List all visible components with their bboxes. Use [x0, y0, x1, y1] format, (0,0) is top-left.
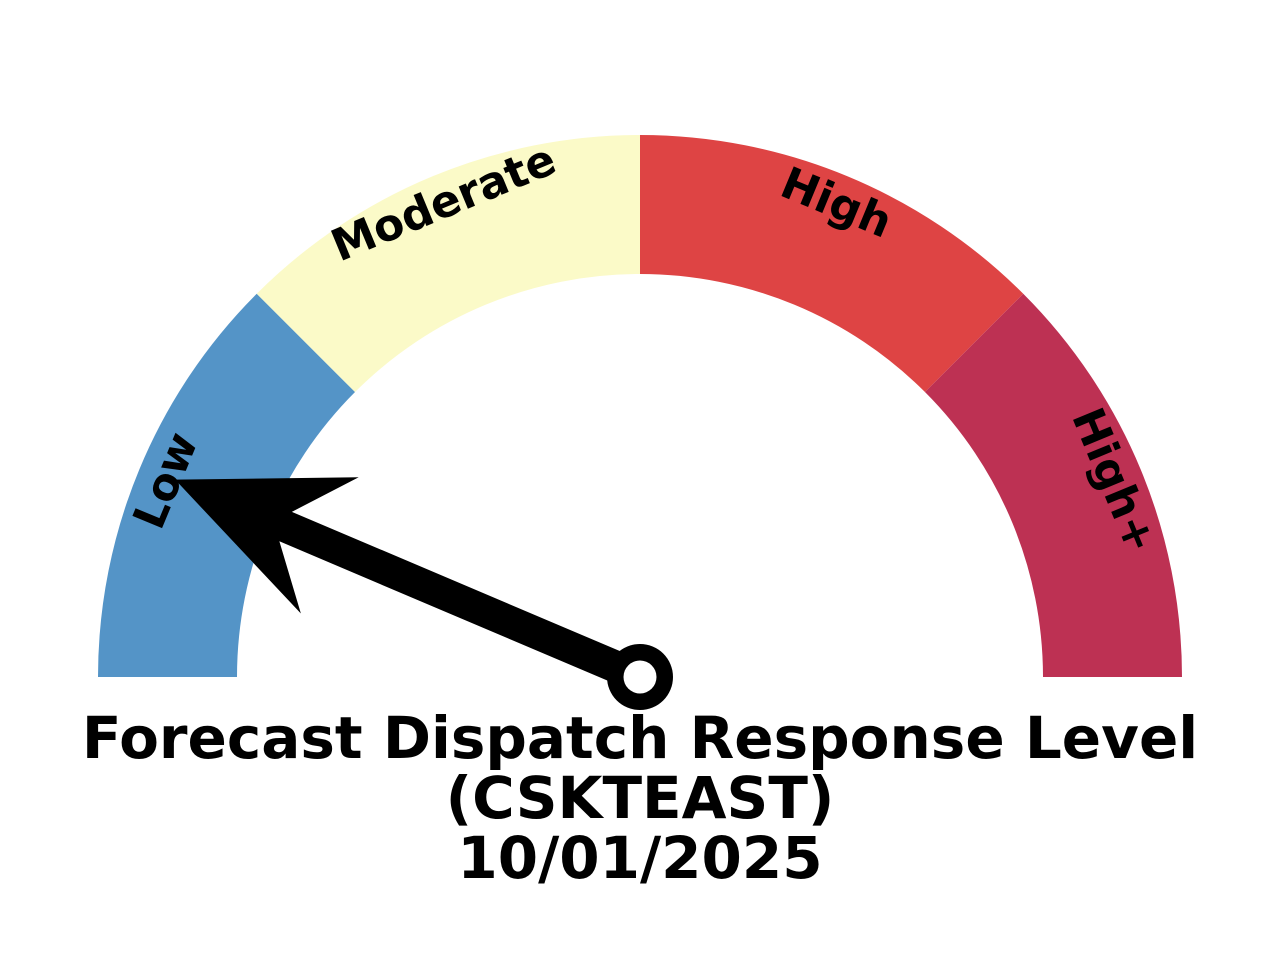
chart-title-line-3: 10/01/2025 [457, 824, 822, 892]
gauge-needle-hub-center [624, 661, 657, 694]
chart-title-line-2: (CSKTEAST) [446, 764, 835, 832]
chart-title-line-1: Forecast Dispatch Response Level [82, 704, 1198, 772]
gauge-figure: LowModerateHighHigh+ Forecast Dispatch R… [0, 0, 1280, 960]
gauge-chart-canvas: LowModerateHighHigh+ Forecast Dispatch R… [0, 0, 1280, 960]
